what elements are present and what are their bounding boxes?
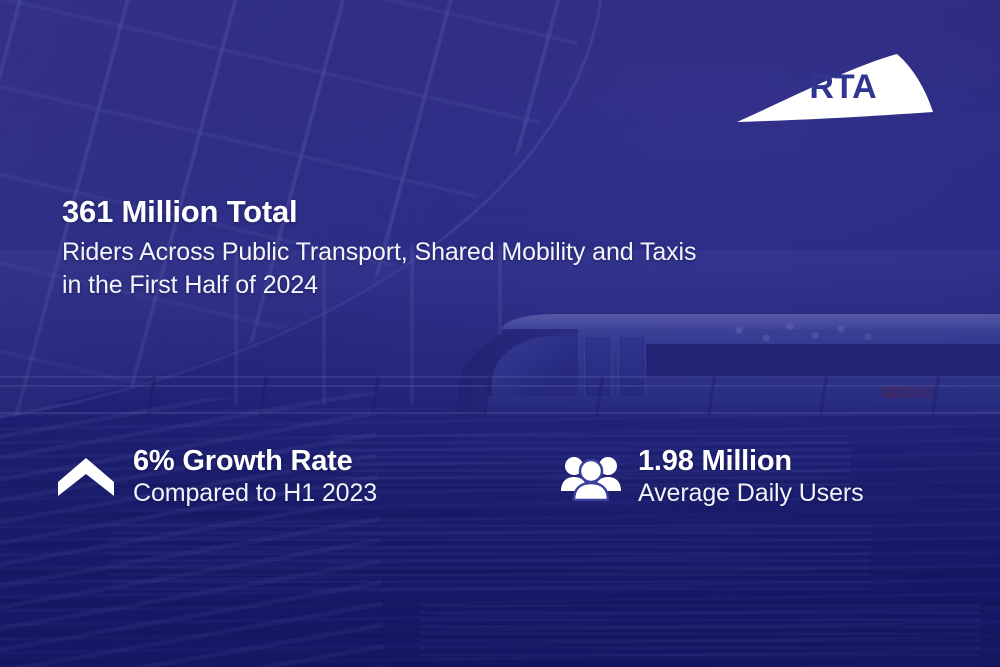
stat-growth-text: 6% Growth Rate Compared to H1 2023 bbox=[133, 444, 377, 509]
stats-row: 6% Growth Rate Compared to H1 2023 bbox=[55, 444, 955, 524]
users-group-icon bbox=[560, 450, 622, 504]
stat-users-text: 1.98 Million Average Daily Users bbox=[638, 444, 864, 509]
headline-block: 361 Million Total Riders Across Public T… bbox=[62, 193, 882, 302]
subtitle-line-2: in the First Half of 2024 bbox=[62, 271, 318, 299]
page-title: 361 Million Total bbox=[62, 193, 882, 231]
headline-subtitle: Riders Across Public Transport, Shared M… bbox=[62, 236, 882, 302]
stat-daily-users: 1.98 Million Average Daily Users bbox=[560, 444, 864, 509]
logo-wordmark: RTA bbox=[809, 68, 876, 106]
stat-users-value: 1.98 Million bbox=[638, 444, 864, 478]
stat-users-label: Average Daily Users bbox=[638, 478, 864, 509]
chevron-up-icon bbox=[55, 450, 117, 504]
stat-growth-value: 6% Growth Rate bbox=[133, 444, 377, 478]
rta-logo[interactable]: RTA bbox=[735, 52, 935, 124]
subtitle-line-1: Riders Across Public Transport, Shared M… bbox=[62, 238, 696, 266]
stat-growth-rate: 6% Growth Rate Compared to H1 2023 bbox=[55, 444, 377, 509]
infographic-poster: RTA 361 Million Total Riders Across Publ… bbox=[0, 0, 1000, 667]
poster-content: RTA 361 Million Total Riders Across Publ… bbox=[0, 0, 1000, 667]
stat-growth-label: Compared to H1 2023 bbox=[133, 478, 377, 509]
